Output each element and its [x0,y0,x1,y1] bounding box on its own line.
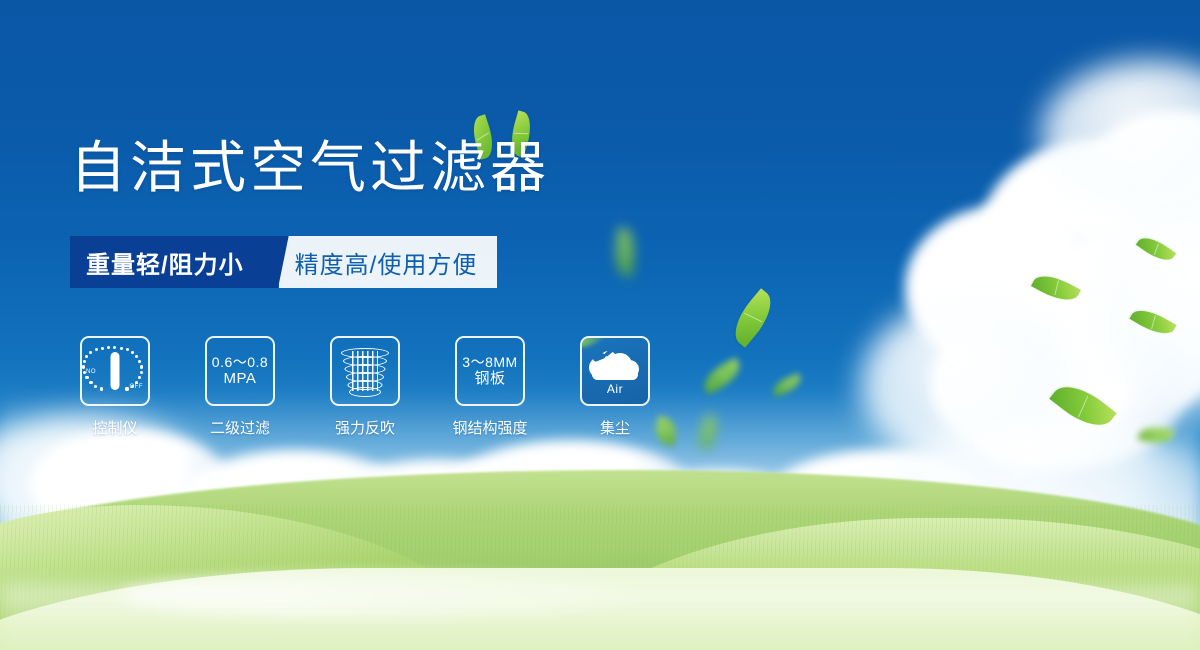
pressure-unit-text: MPA [224,370,257,388]
feature-item-steel[interactable]: 3～8MM 钢板 钢结构强度 [455,336,525,438]
feature-caption: 控制仪 [92,417,137,438]
control-dial-icon: NO OFF [85,343,145,399]
feature-caption: 二级过滤 [210,417,270,438]
feature-icon-box [330,336,400,406]
feature-caption: 强力反吹 [335,417,395,438]
feature-icon-box: 3～8MM 钢板 [455,336,525,406]
feature-item-control[interactable]: NO OFF 控制仪 [80,336,150,438]
dial-label-no: NO [86,369,96,375]
filter-coil-icon [339,345,391,397]
tagline-right: 精度高/使用方便 [279,236,498,288]
air-label: Air [607,382,623,396]
air-cloud-icon [589,349,641,381]
product-hero-banner: 自洁式空气过滤器 重量轻/阻力小 精度高/使用方便 [0,0,1200,650]
dial-needle [111,352,120,390]
steel-thickness-text: 3～8MM [462,354,517,371]
feature-icon-box: NO OFF [80,336,150,406]
feature-icon-box: 0.6～0.8 MPA [205,336,275,406]
tagline-left: 重量轻/阻力小 [70,236,262,288]
dial-label-off: OFF [130,384,144,390]
steel-plate-text: 钢板 [474,370,505,388]
feature-item-blowback[interactable]: 强力反吹 [330,336,400,438]
feature-caption: 钢结构强度 [453,417,528,438]
tagline-bar: 重量轻/阻力小 精度高/使用方便 [70,236,497,288]
feature-item-pressure[interactable]: 0.6～0.8 MPA 二级过滤 [205,336,275,438]
sky-background [0,0,1200,650]
feature-icon-box: Air [580,336,650,406]
feature-item-dust[interactable]: Air 集尘 [580,336,650,438]
page-title: 自洁式空气过滤器 [70,140,550,196]
feature-caption: 集尘 [600,417,630,438]
feature-icon-row: NO OFF 控制仪 0.6～0.8 MPA 二级过滤 [80,336,650,438]
pressure-range-text: 0.6～0.8 [212,354,268,371]
